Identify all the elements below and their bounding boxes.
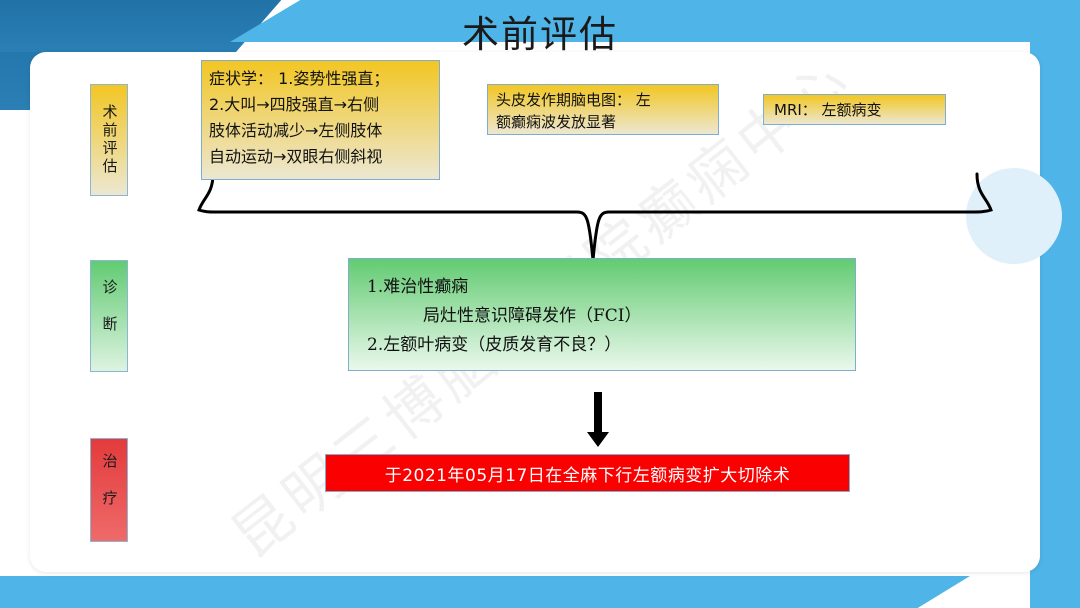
stage-label-treatment: 治疗 (90, 438, 128, 542)
finding-box-symptomatology: 症状学： 1.姿势性强直； 2.大叫→四肢强直→右侧 肢体活动减少→左侧肢体 自… (201, 60, 440, 180)
stage-label-text: 诊断 (99, 279, 120, 353)
stage-label-text: 术前评估 (99, 104, 120, 176)
diagnosis-line-3: 2.左额叶病变（皮质发育不良？） (367, 331, 855, 360)
slide-canvas: 术前评估 昆明三博脑科医院癫痫中心 术前评估 诊断 治疗 症状学： 1.姿势性强… (0, 0, 1080, 608)
arrow-down-icon (583, 392, 613, 448)
stage-label-diagnosis: 诊断 (90, 260, 128, 372)
finding-box-scalp-eeg: 头皮发作期脑电图： 左 额癫痫波发放显著 (487, 84, 719, 135)
finding-line: 额癫痫波发放显著 (496, 111, 710, 133)
stage-label-preop-evaluation: 术前评估 (90, 84, 128, 196)
finding-line: 自动运动→双眼右侧斜视 (209, 144, 432, 170)
finding-line: 头皮发作期脑电图： 左 (496, 89, 710, 111)
stage-label-text: 治疗 (99, 453, 120, 527)
finding-line: 肢体活动减少→左侧肢体 (209, 118, 432, 144)
finding-line: MRI： 左额病变 (774, 98, 935, 123)
treatment-text: 于2021年05月17日在全麻下行左额病变扩大切除术 (385, 461, 791, 486)
brace-connector (195, 172, 995, 264)
page-title: 术前评估 (0, 4, 1080, 58)
diagnosis-line-1: 1.难治性癫痫 (367, 273, 855, 302)
finding-box-mri: MRI： 左额病变 (763, 94, 946, 125)
finding-line: 2.大叫→四肢强直→右侧 (209, 92, 432, 118)
diagnosis-box: 1.难治性癫痫 局灶性意识障碍发作（FCI） 2.左额叶病变（皮质发育不良？） (348, 258, 856, 371)
diagnosis-line-2: 局灶性意识障碍发作（FCI） (367, 302, 855, 331)
treatment-bar: 于2021年05月17日在全麻下行左额病变扩大切除术 (325, 454, 850, 492)
finding-line: 症状学： 1.姿势性强直； (209, 66, 432, 92)
decoration-bottom-blue-bar (0, 576, 970, 608)
